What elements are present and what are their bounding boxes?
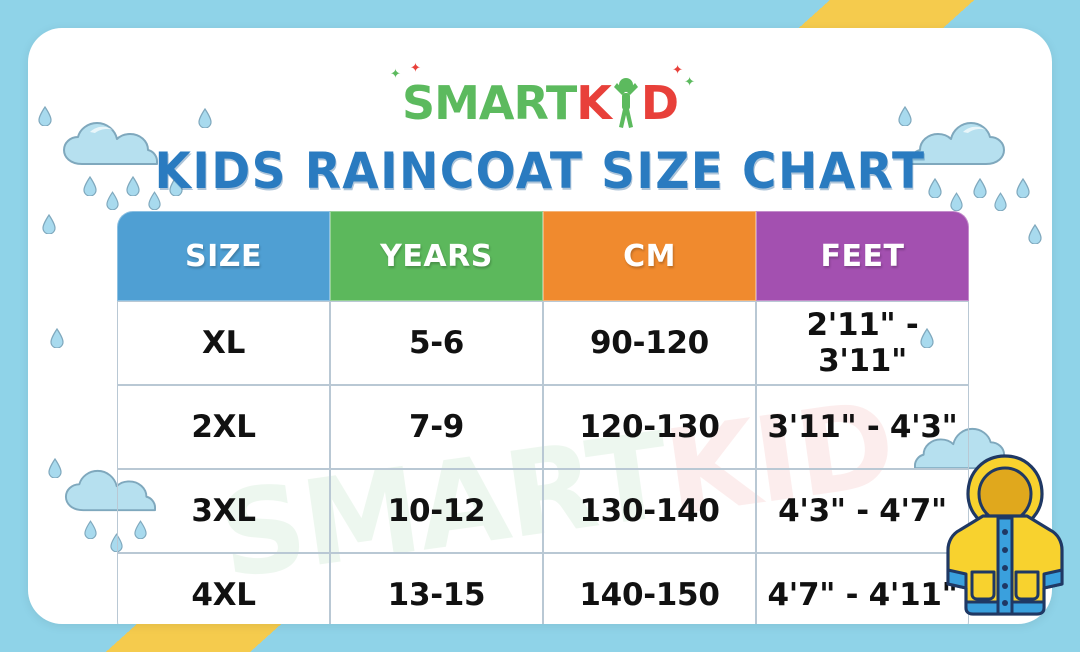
table-body: XL 5-6 90-120 2'11" - 3'11" 2XL 7-9 120-… <box>117 301 969 624</box>
column-header-size: SIZE <box>117 211 330 301</box>
cell-feet: 2'11" - 3'11" <box>756 301 969 385</box>
cell-years: 7-9 <box>330 385 543 469</box>
star-icon: ✦ <box>672 64 682 77</box>
table-header: SIZE YEARS CM FEET <box>117 211 969 301</box>
cell-size: 2XL <box>117 385 330 469</box>
raindrop-icon <box>84 520 97 539</box>
size-chart-poster: SMARTKID <box>0 0 1080 652</box>
column-header-feet: FEET <box>756 211 969 301</box>
cell-years: 13-15 <box>330 553 543 624</box>
page-title: KIDS RAINCOAT SIZE CHART <box>59 142 1022 200</box>
brand-logo: ✦ ✦ SMARTK D ✦ ✦ <box>28 72 1052 134</box>
kid-figure-icon <box>611 77 641 129</box>
star-icon: ✦ <box>684 76 694 89</box>
size-chart-table: SIZE YEARS CM FEET XL 5-6 90-120 2'11" -… <box>117 211 969 624</box>
cell-cm: 90-120 <box>543 301 756 385</box>
raindrop-icon <box>48 458 62 478</box>
content-card: SMARTKID <box>28 28 1052 624</box>
raincoat-illustration <box>936 448 1074 626</box>
logo-text-k: K <box>576 76 611 130</box>
cell-cm: 130-140 <box>543 469 756 553</box>
cell-years: 10-12 <box>330 469 543 553</box>
cell-years: 5-6 <box>330 301 543 385</box>
cell-cm: 120-130 <box>543 385 756 469</box>
table-row: XL 5-6 90-120 2'11" - 3'11" <box>117 301 969 385</box>
raindrop-icon <box>50 328 64 348</box>
cell-cm: 140-150 <box>543 553 756 624</box>
star-icon: ✦ <box>390 68 400 81</box>
raindrop-icon <box>42 214 56 234</box>
cell-size: 4XL <box>117 553 330 624</box>
logo-text-smart: SMART <box>402 76 576 130</box>
column-header-years: YEARS <box>330 211 543 301</box>
table-row: 2XL 7-9 120-130 3'11" - 4'3" <box>117 385 969 469</box>
cell-size: 3XL <box>117 469 330 553</box>
table-row: 4XL 13-15 140-150 4'7" - 4'11" <box>117 553 969 624</box>
column-header-cm: CM <box>543 211 756 301</box>
raindrop-icon <box>1028 224 1042 244</box>
logo-text-d: D <box>641 76 678 130</box>
star-icon: ✦ <box>410 62 420 75</box>
table-row: 3XL 10-12 130-140 4'3" - 4'7" <box>117 469 969 553</box>
table-header-row: SIZE YEARS CM FEET <box>117 211 969 301</box>
cell-size: XL <box>117 301 330 385</box>
